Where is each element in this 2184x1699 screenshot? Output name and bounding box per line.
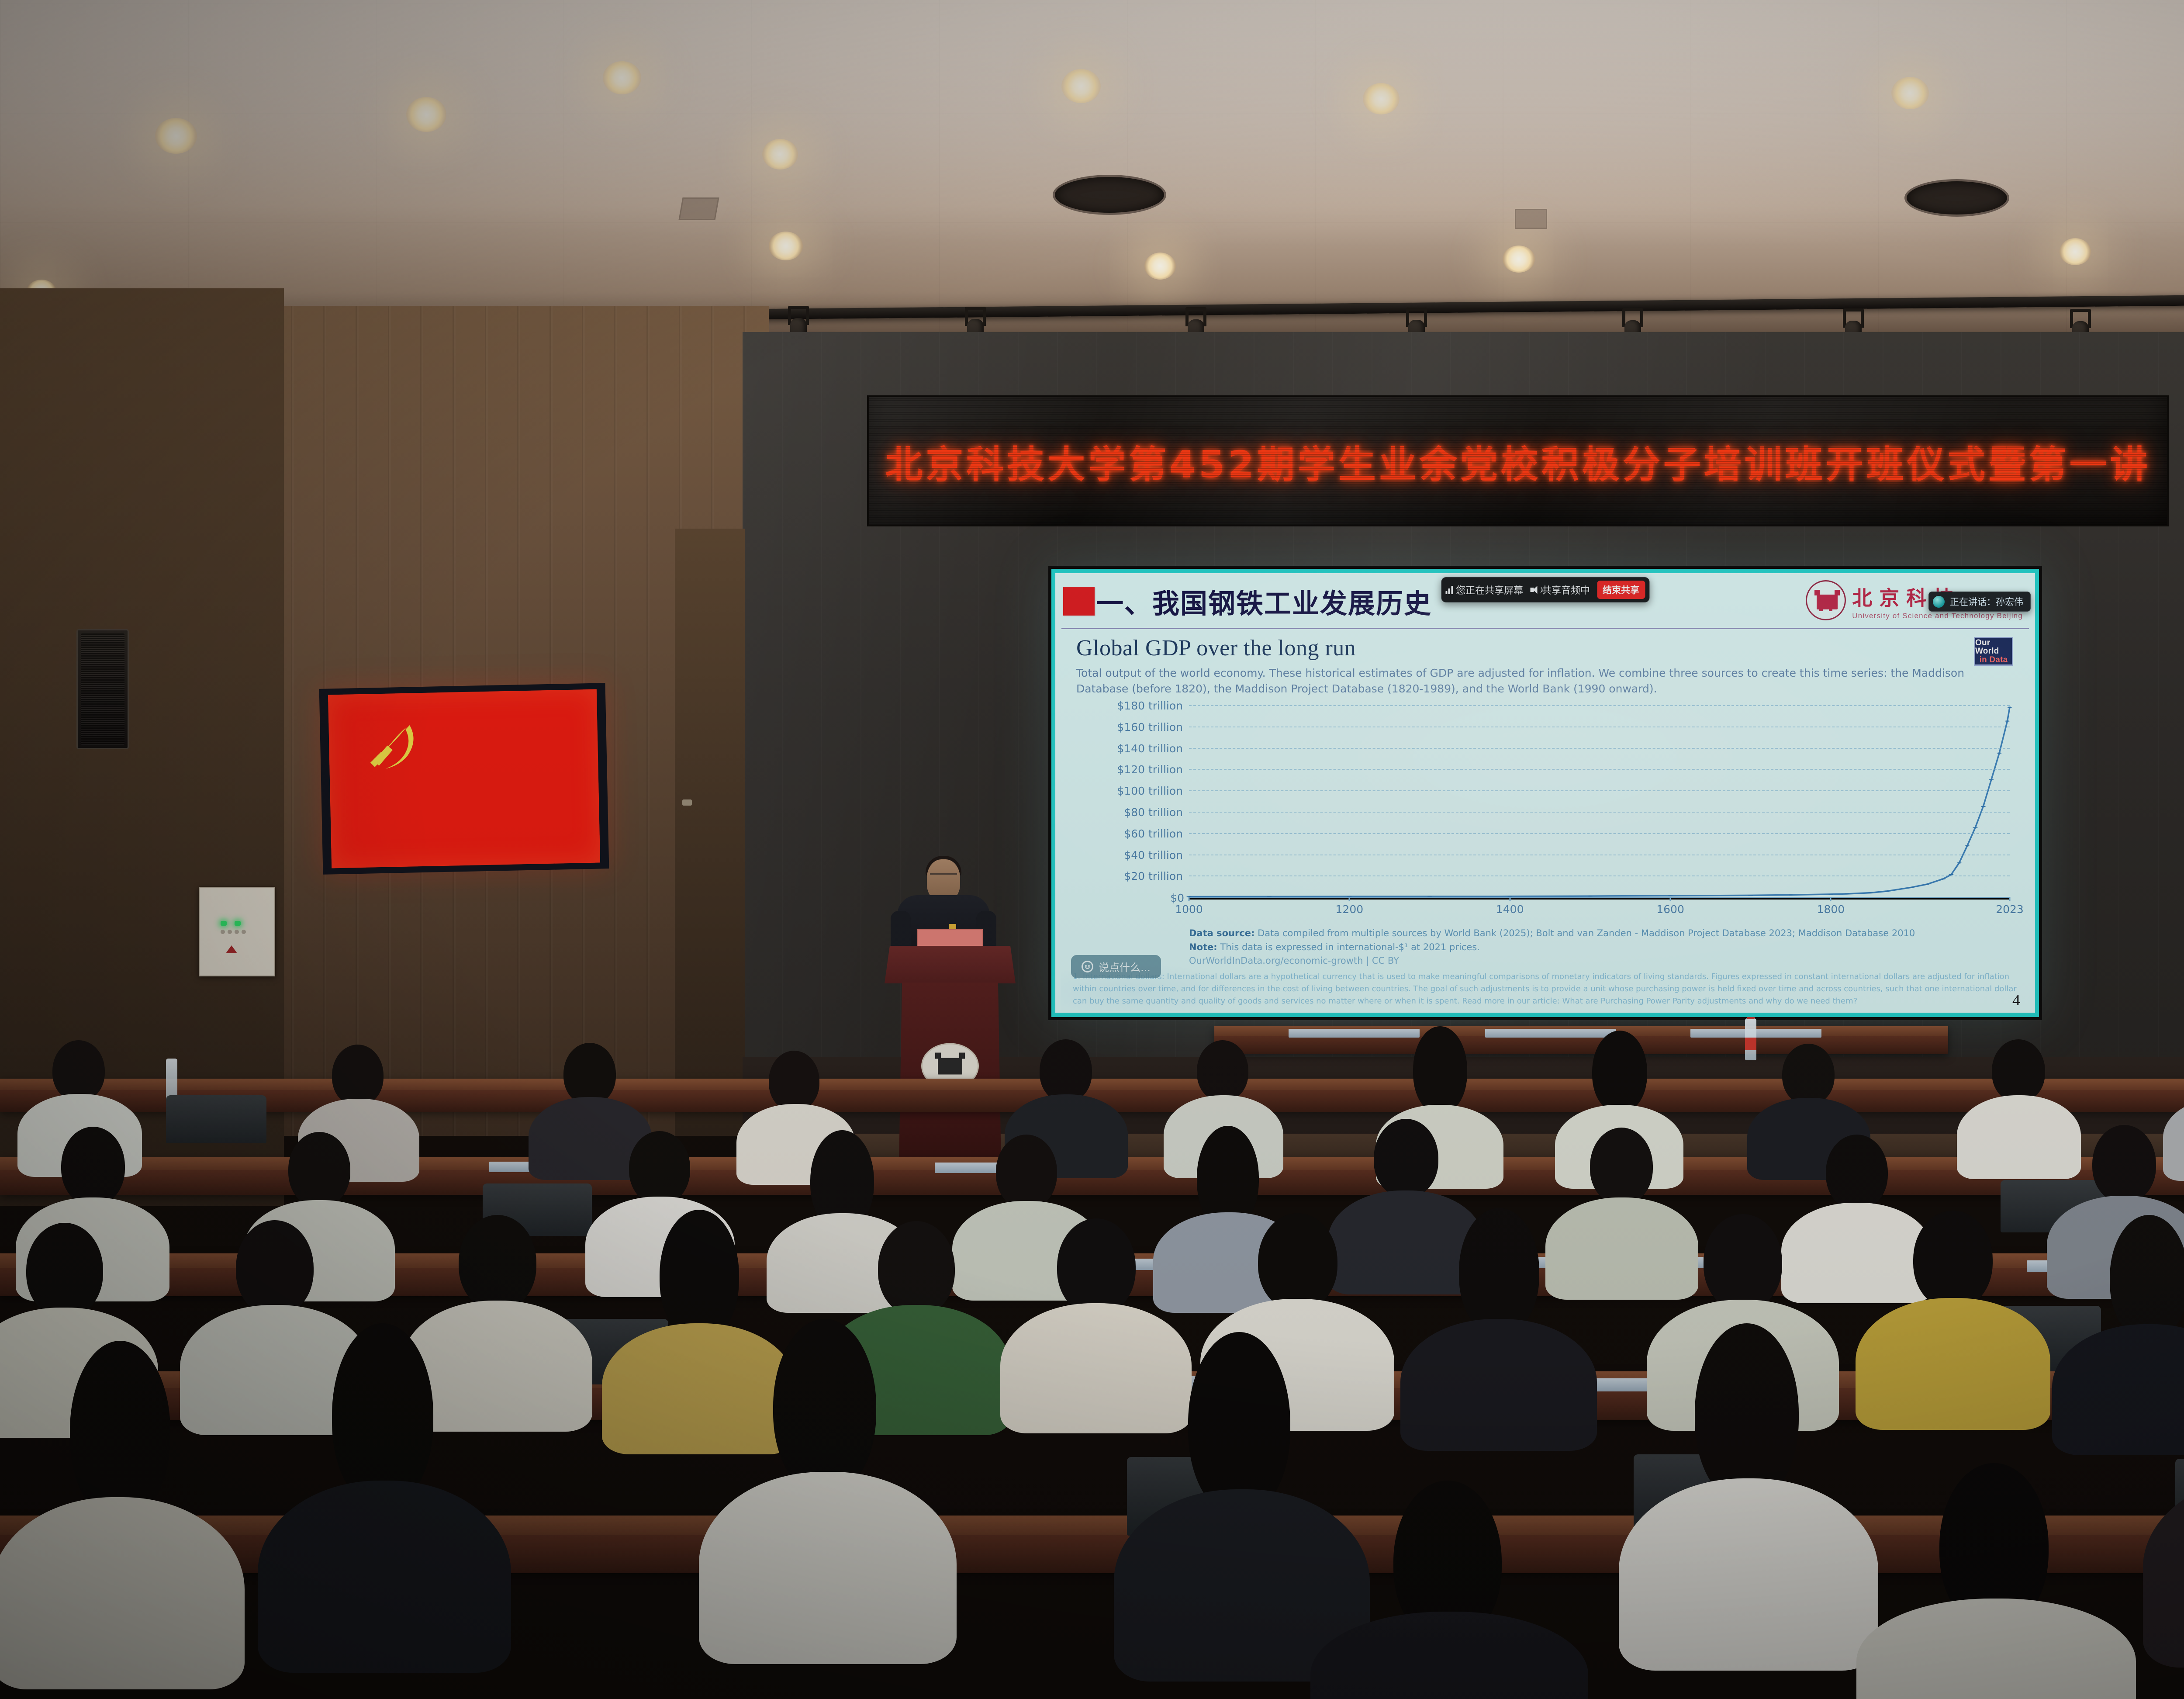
y-axis-tick-label: $140 trillion (1117, 742, 1183, 755)
data-point (1668, 895, 1673, 896)
data-point (2007, 707, 2012, 708)
y-axis-tick-label: $20 trillion (1124, 870, 1183, 882)
ceiling-downlight (1503, 246, 1535, 273)
chart-canvas: $0$20 trillion$40 trillion$60 trillion$8… (1189, 705, 2010, 897)
x-axis-tick-label: 1600 (1656, 903, 1684, 916)
ustb-logo-en: University of Science and Technology Bei… (1852, 612, 2023, 620)
ceiling-downlight (1061, 69, 1101, 103)
data-point (1957, 862, 1962, 864)
audience-shoulders (0, 1497, 245, 1689)
chart-title: Global GDP over the long run (1076, 635, 2014, 661)
gridline: $120 trillion (1189, 769, 2010, 770)
x-axis-tick-mark (1349, 897, 1350, 901)
slide-section-title: 一、我国钢铁工业发展历史 (1096, 581, 1432, 621)
projection-screen-frame: 一、我国钢铁工业发展历史 北京科技 University of Science … (1048, 566, 2042, 1020)
ceiling (0, 0, 2184, 332)
panel-knob[interactable] (235, 930, 239, 934)
data-point (1788, 894, 1793, 896)
audience-head (1057, 1218, 1136, 1315)
gridline: $160 trillion (1189, 727, 2010, 727)
slide-header-rule (1061, 628, 2029, 629)
audio-status: 共享音频中 (1530, 583, 1590, 597)
gridline: $140 trillion (1189, 748, 2010, 749)
hammer-sickle-icon (352, 713, 435, 785)
end-share-button[interactable]: 结束共享 (1597, 581, 1645, 599)
data-point (1965, 845, 1970, 847)
data-point (1989, 779, 1994, 781)
slide-accent-block (1063, 587, 1095, 616)
audience-head (2092, 1125, 2156, 1203)
audience-shoulders (699, 1472, 957, 1664)
source-prefix: Data source: (1189, 928, 1254, 938)
audience-head (1590, 1128, 1653, 1204)
left-wall-speaker (76, 629, 129, 749)
ceiling-downlight (1363, 83, 1400, 114)
audience-shoulders (1957, 1095, 2081, 1179)
led-banner: 北京科技大学第452期学生业余党校积极分子培训班开班仪式暨第一讲 (867, 395, 2169, 526)
ceiling-downlight (769, 232, 803, 260)
audience-head (629, 1131, 690, 1204)
x-axis-tick-mark (2009, 897, 2011, 901)
data-point (1949, 874, 1953, 875)
audience-head (332, 1323, 433, 1507)
screen-edge-bottom (1051, 1013, 2039, 1017)
active-speaker-label: 正在讲话：孙宏伟 (1950, 595, 2023, 608)
audience-head (52, 1040, 105, 1101)
gdp-line-series (1189, 705, 2010, 897)
signal-bars-icon (1445, 586, 1453, 594)
ceiling-speaker (1904, 179, 2009, 217)
ceiling-shading (0, 0, 2184, 332)
chart-subtitle: Total output of the world economy. These… (1076, 665, 2014, 696)
data-point (1941, 878, 1946, 879)
audience-head (773, 1319, 876, 1494)
y-axis-tick-label: $60 trillion (1124, 827, 1183, 840)
audience-head (1040, 1039, 1092, 1102)
projection-screen: 一、我国钢铁工业发展历史 北京科技 University of Science … (1051, 569, 2039, 1017)
audience-head (332, 1045, 384, 1106)
screen-edge-right (2035, 569, 2039, 1017)
y-axis-tick-label: $100 trillion (1117, 785, 1183, 797)
x-axis-tick-label: 1400 (1496, 903, 1524, 916)
audience-head (1992, 1039, 2045, 1102)
screen-share-toolbar[interactable]: 您正在共享屏幕 共享音频中 结束共享 (1441, 577, 1649, 602)
audience-shoulders (1545, 1197, 1698, 1300)
gridline: $60 trillion (1189, 833, 2010, 834)
panel-knob[interactable] (228, 930, 232, 934)
audience-head (2110, 1215, 2184, 1340)
audience-area (0, 1017, 2184, 1699)
audience-head (1374, 1119, 1438, 1197)
y-axis-tick-label: $160 trillion (1117, 721, 1183, 734)
audience-head (1826, 1135, 1888, 1210)
door-handle[interactable] (682, 799, 692, 806)
x-axis-tick-label: 2023 (1996, 903, 2024, 916)
smiley-icon (1082, 961, 1093, 972)
left-flag-display (319, 683, 609, 875)
gridline: $40 trillion (1189, 855, 2010, 855)
screen-edge-left (1051, 569, 1055, 1017)
slide-footnote-band: 说点什么... 1. International dollars: Intern… (1055, 968, 2035, 1013)
y-axis-tick-label: $180 trillion (1117, 699, 1183, 712)
cpc-flag-left (328, 689, 600, 869)
data-point (1884, 891, 1889, 892)
data-point (1997, 752, 2001, 754)
y-axis-tick-label: $40 trillion (1124, 849, 1183, 862)
audience-head (459, 1215, 536, 1310)
avatar (1933, 596, 1945, 608)
audience-head (26, 1223, 103, 1317)
audience-head (1197, 1040, 1248, 1101)
data-point (1844, 893, 1849, 895)
audience-head (1913, 1211, 1993, 1308)
ceiling-downlight (1891, 77, 1929, 109)
gridline: $180 trillion (1189, 705, 2010, 706)
audience-head (563, 1043, 616, 1105)
presenter-glasses (930, 873, 957, 879)
audience-head (660, 1210, 739, 1341)
gridline: $100 trillion (1189, 790, 2010, 791)
wall-control-panel[interactable]: 控制面板 (199, 887, 275, 976)
source-text: Data compiled from multiple sources by W… (1254, 928, 1915, 938)
x-axis-line: $0 (1189, 897, 2010, 900)
x-axis-tick-mark (1509, 897, 1510, 901)
sharing-status: 您正在共享屏幕 (1445, 583, 1523, 597)
presentation-slide: 一、我国钢铁工业发展历史 北京科技 University of Science … (1055, 573, 2035, 1013)
audio-status-label: 共享音频中 (1542, 583, 1590, 597)
ceiling-speaker (1053, 175, 1166, 215)
audience-head (1459, 1208, 1539, 1335)
data-point (1828, 894, 1833, 895)
x-axis-tick-mark (1189, 897, 1190, 901)
audience-head (61, 1127, 125, 1205)
owid-logo-icon: Our World in Data (1974, 637, 2013, 666)
audience-shoulders (1000, 1303, 1192, 1433)
data-point (1908, 887, 1913, 888)
y-axis-tick-label: $0 (1170, 892, 1184, 904)
data-point (1869, 892, 1873, 893)
x-axis-tick-mark (1830, 897, 1832, 901)
chart-plot-area: $0$20 trillion$40 trillion$60 trillion$8… (1080, 702, 2014, 924)
ceiling-downlight (1144, 253, 1176, 280)
note-text: This data is expressed in international-… (1217, 942, 1480, 952)
panel-warning-icon (226, 945, 237, 953)
audience-shoulders (1400, 1319, 1597, 1451)
panel-indicator-led (221, 921, 227, 926)
y-axis-tick-label: $120 trillion (1117, 763, 1183, 776)
ceiling-downlight (406, 97, 446, 132)
audience-head (288, 1132, 350, 1207)
audience-shoulders (2143, 1475, 2184, 1668)
note-prefix: Note: (1189, 942, 1217, 952)
audience-head (1695, 1323, 1799, 1502)
ceiling-downlight (155, 118, 197, 154)
owid-credit[interactable]: OurWorldInData.org/economic-growth | CC … (1189, 954, 2014, 968)
audience-head (236, 1220, 314, 1315)
active-speaker-pill: 正在讲话：孙宏伟 (1928, 592, 2031, 612)
chair-back (166, 1095, 266, 1143)
slide-page-number: 4 (2012, 991, 2020, 1009)
x-axis-tick-mark (1670, 897, 1671, 901)
led-scanlines (869, 397, 2167, 525)
comment-button[interactable]: 说点什么... (1071, 955, 1161, 978)
water-bottle (1745, 1018, 1756, 1060)
owid-chart: Our World in Data Global GDP over the lo… (1076, 635, 2014, 968)
audience-shoulders (1856, 1599, 2136, 1699)
ceiling-vent (678, 197, 719, 220)
gridline: $80 trillion (1189, 812, 2010, 813)
audience-head (996, 1135, 1057, 1209)
speaker-icon (1530, 586, 1539, 594)
sharing-status-label: 您正在共享屏幕 (1456, 583, 1523, 597)
data-point (1748, 895, 1753, 896)
audience-head (878, 1221, 955, 1315)
ceiling-vent (1515, 209, 1547, 229)
audience-head (769, 1051, 819, 1111)
data-point (1973, 827, 1977, 828)
audience-shoulders (258, 1481, 511, 1673)
chart-source-note: Data source: Data compiled from multiple… (1189, 927, 2014, 968)
gridline: $20 trillion (1189, 875, 2010, 876)
audience-shoulders (1856, 1298, 2050, 1430)
audience-shoulders (1619, 1478, 1878, 1671)
lecture-hall-photo: 北京科技大学第452期学生业余党校积极分子培训班开班仪式暨第一讲 一、我国钢铁工… (0, 0, 2184, 1699)
audience-head (1413, 1026, 1467, 1114)
desk-pad (1485, 1029, 1616, 1038)
x-axis-tick-label: 1200 (1336, 903, 1364, 916)
owid-brand-line2: in Data (1980, 656, 2008, 664)
podium-top (885, 946, 1016, 983)
ceiling-downlight (2060, 238, 2091, 265)
ceiling-downlight (762, 139, 798, 170)
water-bottle (166, 1059, 177, 1100)
y-axis-tick-label: $80 trillion (1124, 806, 1183, 819)
comment-button-label: 说点什么... (1099, 959, 1151, 974)
audience-head (1592, 1031, 1647, 1113)
panel-indicator-led (235, 921, 241, 926)
screen-edge-top (1051, 569, 2039, 573)
audience-head (1258, 1213, 1337, 1310)
audience-head (1704, 1214, 1782, 1310)
desk-pad (1289, 1029, 1420, 1038)
audience-head (70, 1341, 170, 1520)
ceiling-downlight (603, 61, 641, 94)
panel-knob[interactable] (242, 930, 246, 934)
data-point (1925, 884, 1929, 885)
x-axis-tick-label: 1800 (1817, 903, 1845, 916)
data-point (1981, 806, 1986, 807)
audience-shoulders (602, 1323, 796, 1454)
panel-knob[interactable] (221, 930, 225, 934)
ustb-seal-icon (1806, 580, 1846, 620)
data-point (2005, 720, 2010, 722)
audience-head (1782, 1044, 1835, 1105)
owid-brand-line1: Our World (1975, 639, 2012, 656)
audience-shoulders (1781, 1203, 1932, 1303)
x-axis-tick-label: 1000 (1175, 903, 1203, 916)
audience-head (1188, 1332, 1290, 1515)
data-point (1588, 896, 1593, 897)
